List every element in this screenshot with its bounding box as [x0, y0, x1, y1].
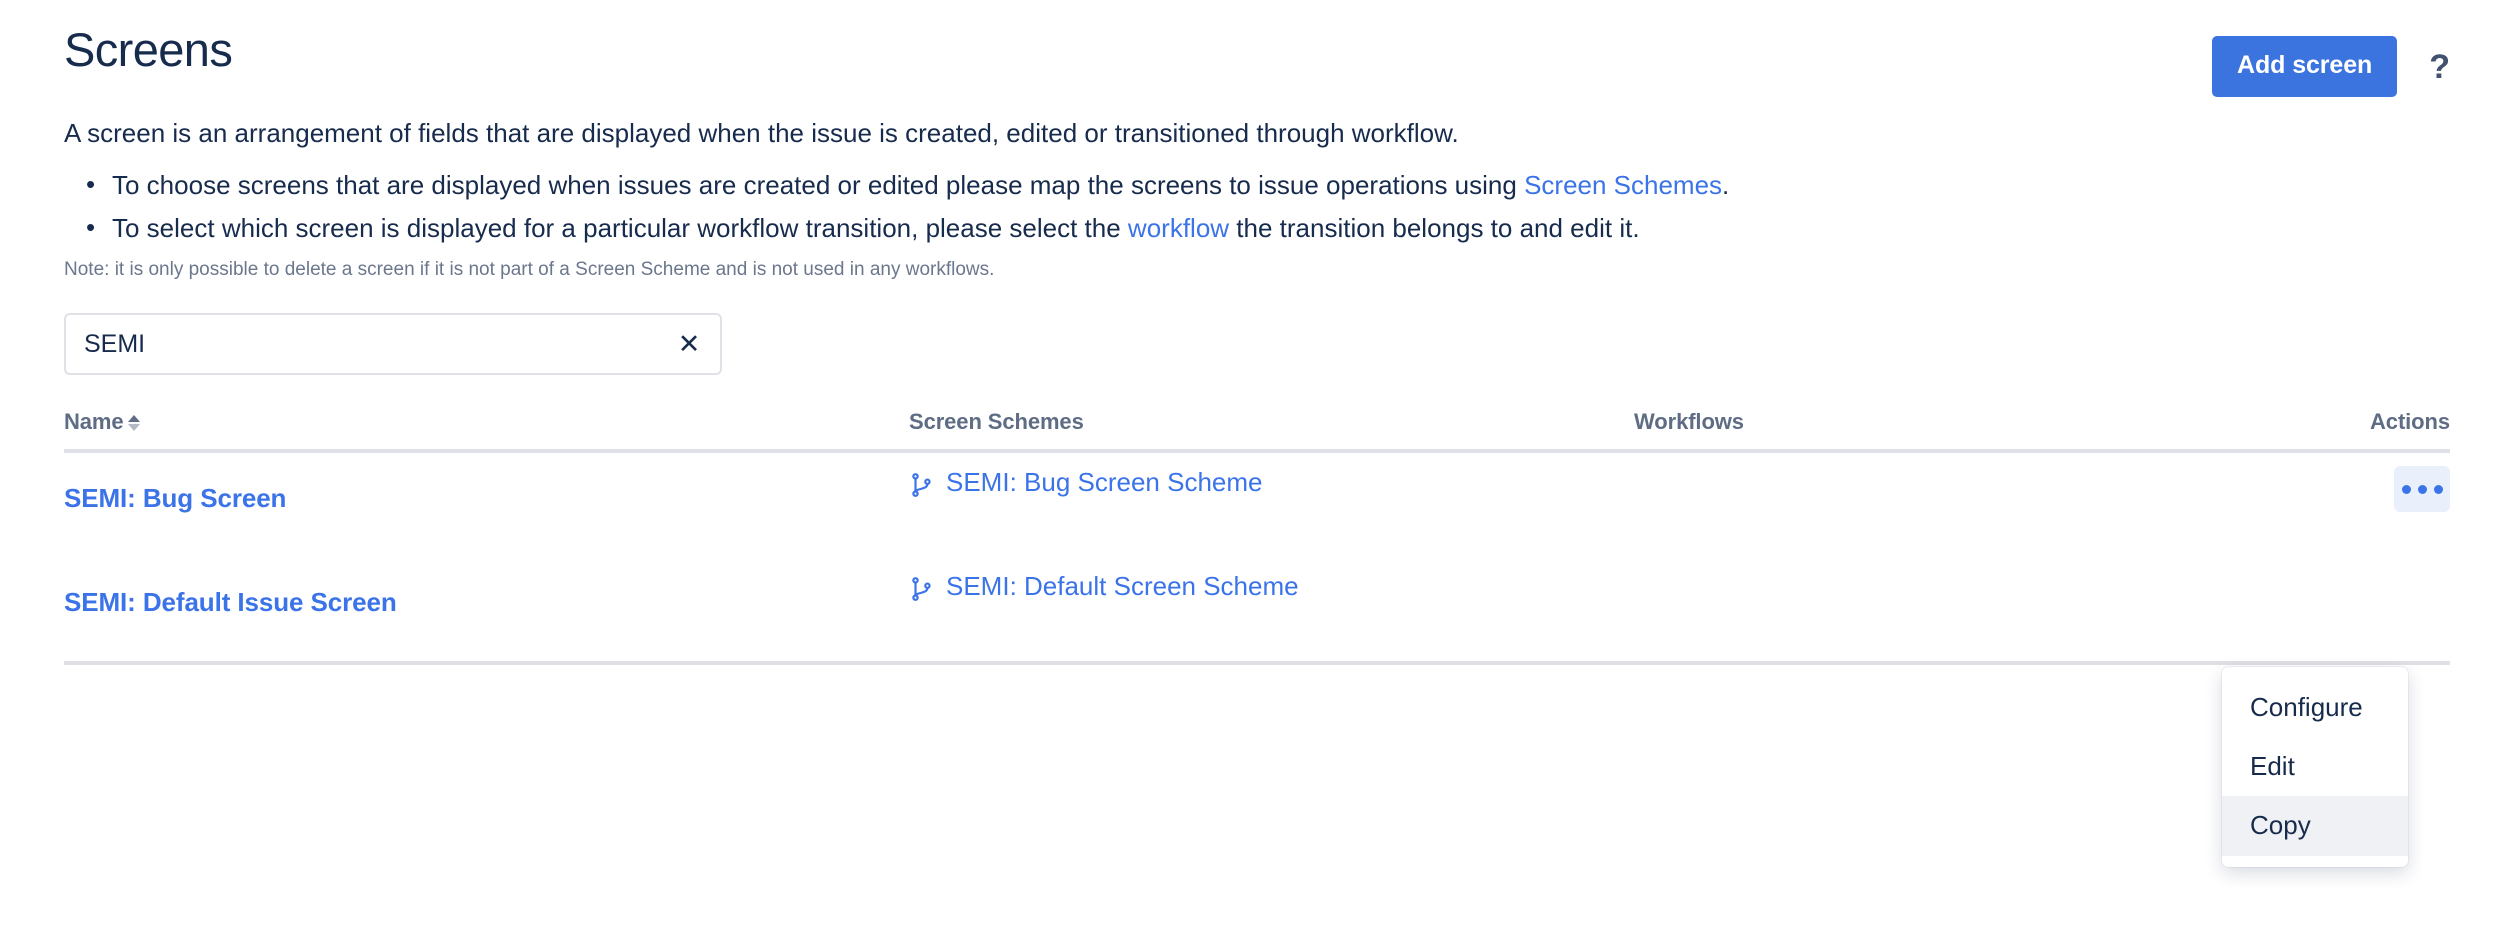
dot-icon	[2418, 485, 2427, 494]
screen-scheme-link[interactable]: SEMI: Default Screen Scheme	[946, 571, 1299, 602]
column-header-screen-schemes: Screen Schemes	[909, 409, 1634, 435]
list-item: To choose screens that are displayed whe…	[112, 170, 2456, 200]
note-text: Note: it is only possible to delete a sc…	[64, 258, 2456, 283]
screens-page: Screens Add screen ? A screen is an arra…	[0, 0, 2520, 944]
screen-name-link[interactable]: SEMI: Bug Screen	[64, 483, 286, 513]
search-field[interactable]: ✕	[64, 313, 722, 375]
dot-icon	[2402, 485, 2411, 494]
header-actions: Add screen ?	[2212, 22, 2456, 97]
dot-icon	[2434, 485, 2443, 494]
info-bullet-list: To choose screens that are displayed whe…	[64, 170, 2456, 244]
menu-item-configure[interactable]: Configure	[2222, 678, 2408, 737]
table-body: SEMI: Bug Screen SEMI: Bug Screen Scheme	[64, 453, 2450, 665]
menu-item-edit[interactable]: Edit	[2222, 737, 2408, 796]
screen-name-link[interactable]: SEMI: Default Issue Screen	[64, 587, 397, 617]
cell-actions	[2199, 466, 2450, 512]
bullet-text-after: the transition belongs to and edit it.	[1229, 213, 1640, 243]
table-row: SEMI: Bug Screen SEMI: Bug Screen Scheme	[64, 453, 2450, 557]
page-header: Screens Add screen ?	[64, 0, 2456, 97]
list-item: To select which screen is displayed for …	[112, 213, 2456, 243]
sort-updown-icon[interactable]	[128, 415, 140, 431]
add-screen-button[interactable]: Add screen	[2212, 36, 2397, 97]
cell-screen-scheme: SEMI: Default Screen Scheme	[909, 571, 1634, 602]
more-actions-button[interactable]	[2394, 466, 2450, 512]
branch-icon	[909, 472, 935, 498]
bullet-text-after: .	[1722, 170, 1729, 200]
help-icon[interactable]: ?	[2423, 46, 2456, 88]
page-description: A screen is an arrangement of fields tha…	[64, 117, 2456, 151]
column-header-name[interactable]: Name	[64, 409, 909, 435]
screen-schemes-link[interactable]: Screen Schemes	[1524, 170, 1722, 200]
page-title: Screens	[64, 22, 232, 77]
cell-screen-scheme: SEMI: Bug Screen Scheme	[909, 467, 1634, 498]
cell-screen-name: SEMI: Default Issue Screen	[64, 587, 909, 618]
actions-dropdown-menu: Configure Edit Copy	[2222, 667, 2408, 867]
screen-scheme-link[interactable]: SEMI: Bug Screen Scheme	[946, 467, 1262, 498]
table-row: SEMI: Default Issue Screen SEMI: Default…	[64, 557, 2450, 665]
clear-search-icon[interactable]: ✕	[666, 315, 720, 373]
cell-screen-name: SEMI: Bug Screen	[64, 483, 909, 514]
column-header-actions: Actions	[2199, 409, 2450, 435]
bullet-text-before: To choose screens that are displayed whe…	[112, 170, 1524, 200]
bullet-text-before: To select which screen is displayed for …	[112, 213, 1128, 243]
search-input[interactable]	[66, 315, 666, 373]
menu-item-copy[interactable]: Copy	[2222, 796, 2408, 855]
screens-table: Name Screen Schemes Workflows Actions SE…	[64, 409, 2450, 665]
column-header-workflows: Workflows	[1634, 409, 2199, 435]
branch-icon	[909, 576, 935, 602]
column-header-name-label: Name	[64, 409, 124, 435]
table-header-row: Name Screen Schemes Workflows Actions	[64, 409, 2450, 453]
workflow-link[interactable]: workflow	[1128, 213, 1229, 243]
